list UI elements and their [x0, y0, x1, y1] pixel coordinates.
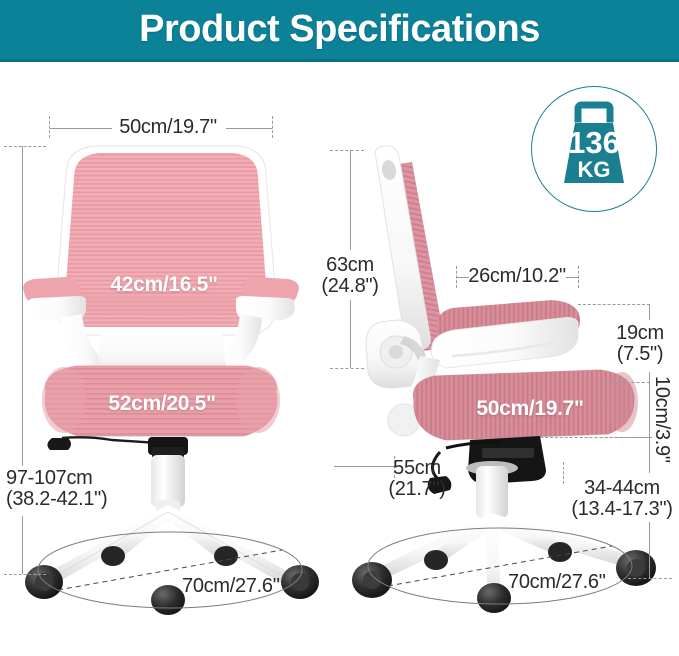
guide-tick-top-63cm	[330, 150, 364, 151]
guide-line-34cm-lower	[649, 522, 650, 578]
product-specifications-page: Product Specifications 136 KG	[0, 0, 679, 656]
armrest-to-seat-line1: 19cm	[616, 322, 664, 344]
guide-tick-seat-top	[600, 382, 650, 383]
guide-line-63cm-lower	[350, 300, 351, 368]
dimension-seat-width: 52cm/20.5"	[62, 393, 262, 415]
overall-height-line2: (38.2-42.1")	[6, 489, 107, 510]
dimension-seat-thickness: 10cm/3.9"	[651, 376, 672, 463]
guide-line-19cm-upper	[649, 304, 650, 320]
guide-tick-top-19cm	[578, 304, 650, 305]
guide-tick-top-height	[4, 146, 46, 147]
guide-line-34cm-upper	[649, 437, 650, 473]
guide-tick-right-50cm	[272, 116, 273, 138]
dimension-seat-depth: 50cm/19.7"	[430, 398, 630, 420]
casters-side	[352, 542, 656, 613]
dimension-backrest-height: 42cm/16.5"	[64, 274, 264, 296]
chair-front-view-art	[23, 146, 319, 615]
header-banner: Product Specifications	[0, 0, 679, 62]
seat-height-range-line1: 34-44cm	[584, 477, 660, 499]
weight-capacity-badge: 136 KG	[531, 86, 657, 212]
guide-line-height-upper	[22, 146, 23, 466]
guide-line-19cm-lower	[649, 372, 650, 382]
dimension-seat-height-range: 34-44cm (13.4-17.3")	[564, 478, 679, 520]
backrest-height-side-line1: 63cm	[326, 254, 374, 276]
backrest-height-side-line2: (24.8")	[312, 276, 388, 297]
guide-tick-left-50cm	[49, 116, 50, 138]
guide-line-height-lower	[22, 516, 23, 574]
guide-line-10cm	[649, 382, 650, 437]
dimension-base-diameter-side: 70cm/27.6"	[508, 572, 606, 593]
overall-height-line1: 97-107cm	[6, 467, 93, 489]
dimension-seat-front-depth: 55cm (21.7")	[374, 458, 460, 500]
guide-tick-top-34cm	[540, 437, 652, 438]
dimension-overall-height: 97-107cm (38.2-42.1")	[6, 468, 107, 510]
seat-height-range-line2: (13.4-17.3")	[564, 499, 679, 520]
guide-tick-bottom-63cm	[330, 368, 364, 369]
dimension-backrest-height-side: 63cm (24.8")	[312, 255, 388, 297]
seat-front-depth-line2: (21.7")	[374, 479, 460, 500]
dimension-backrest-width: 50cm/19.7"	[102, 117, 234, 138]
guide-tick-bottom-34cm	[628, 578, 672, 579]
page-title: Product Specifications	[0, 0, 679, 59]
guide-tick-bottom-height	[4, 574, 46, 575]
weight-kettlebell-icon	[532, 87, 656, 211]
dimension-base-diameter-front: 70cm/27.6"	[182, 576, 280, 597]
guide-line-63cm-upper	[350, 150, 351, 250]
seat-front-depth-line1: 55cm	[393, 457, 441, 479]
dimension-armrest-to-seat: 19cm (7.5")	[606, 323, 674, 365]
chair-side-view-art	[352, 146, 656, 613]
armrest-to-seat-line2: (7.5")	[606, 344, 674, 365]
dimension-armrest-length: 26cm/10.2"	[460, 266, 574, 287]
